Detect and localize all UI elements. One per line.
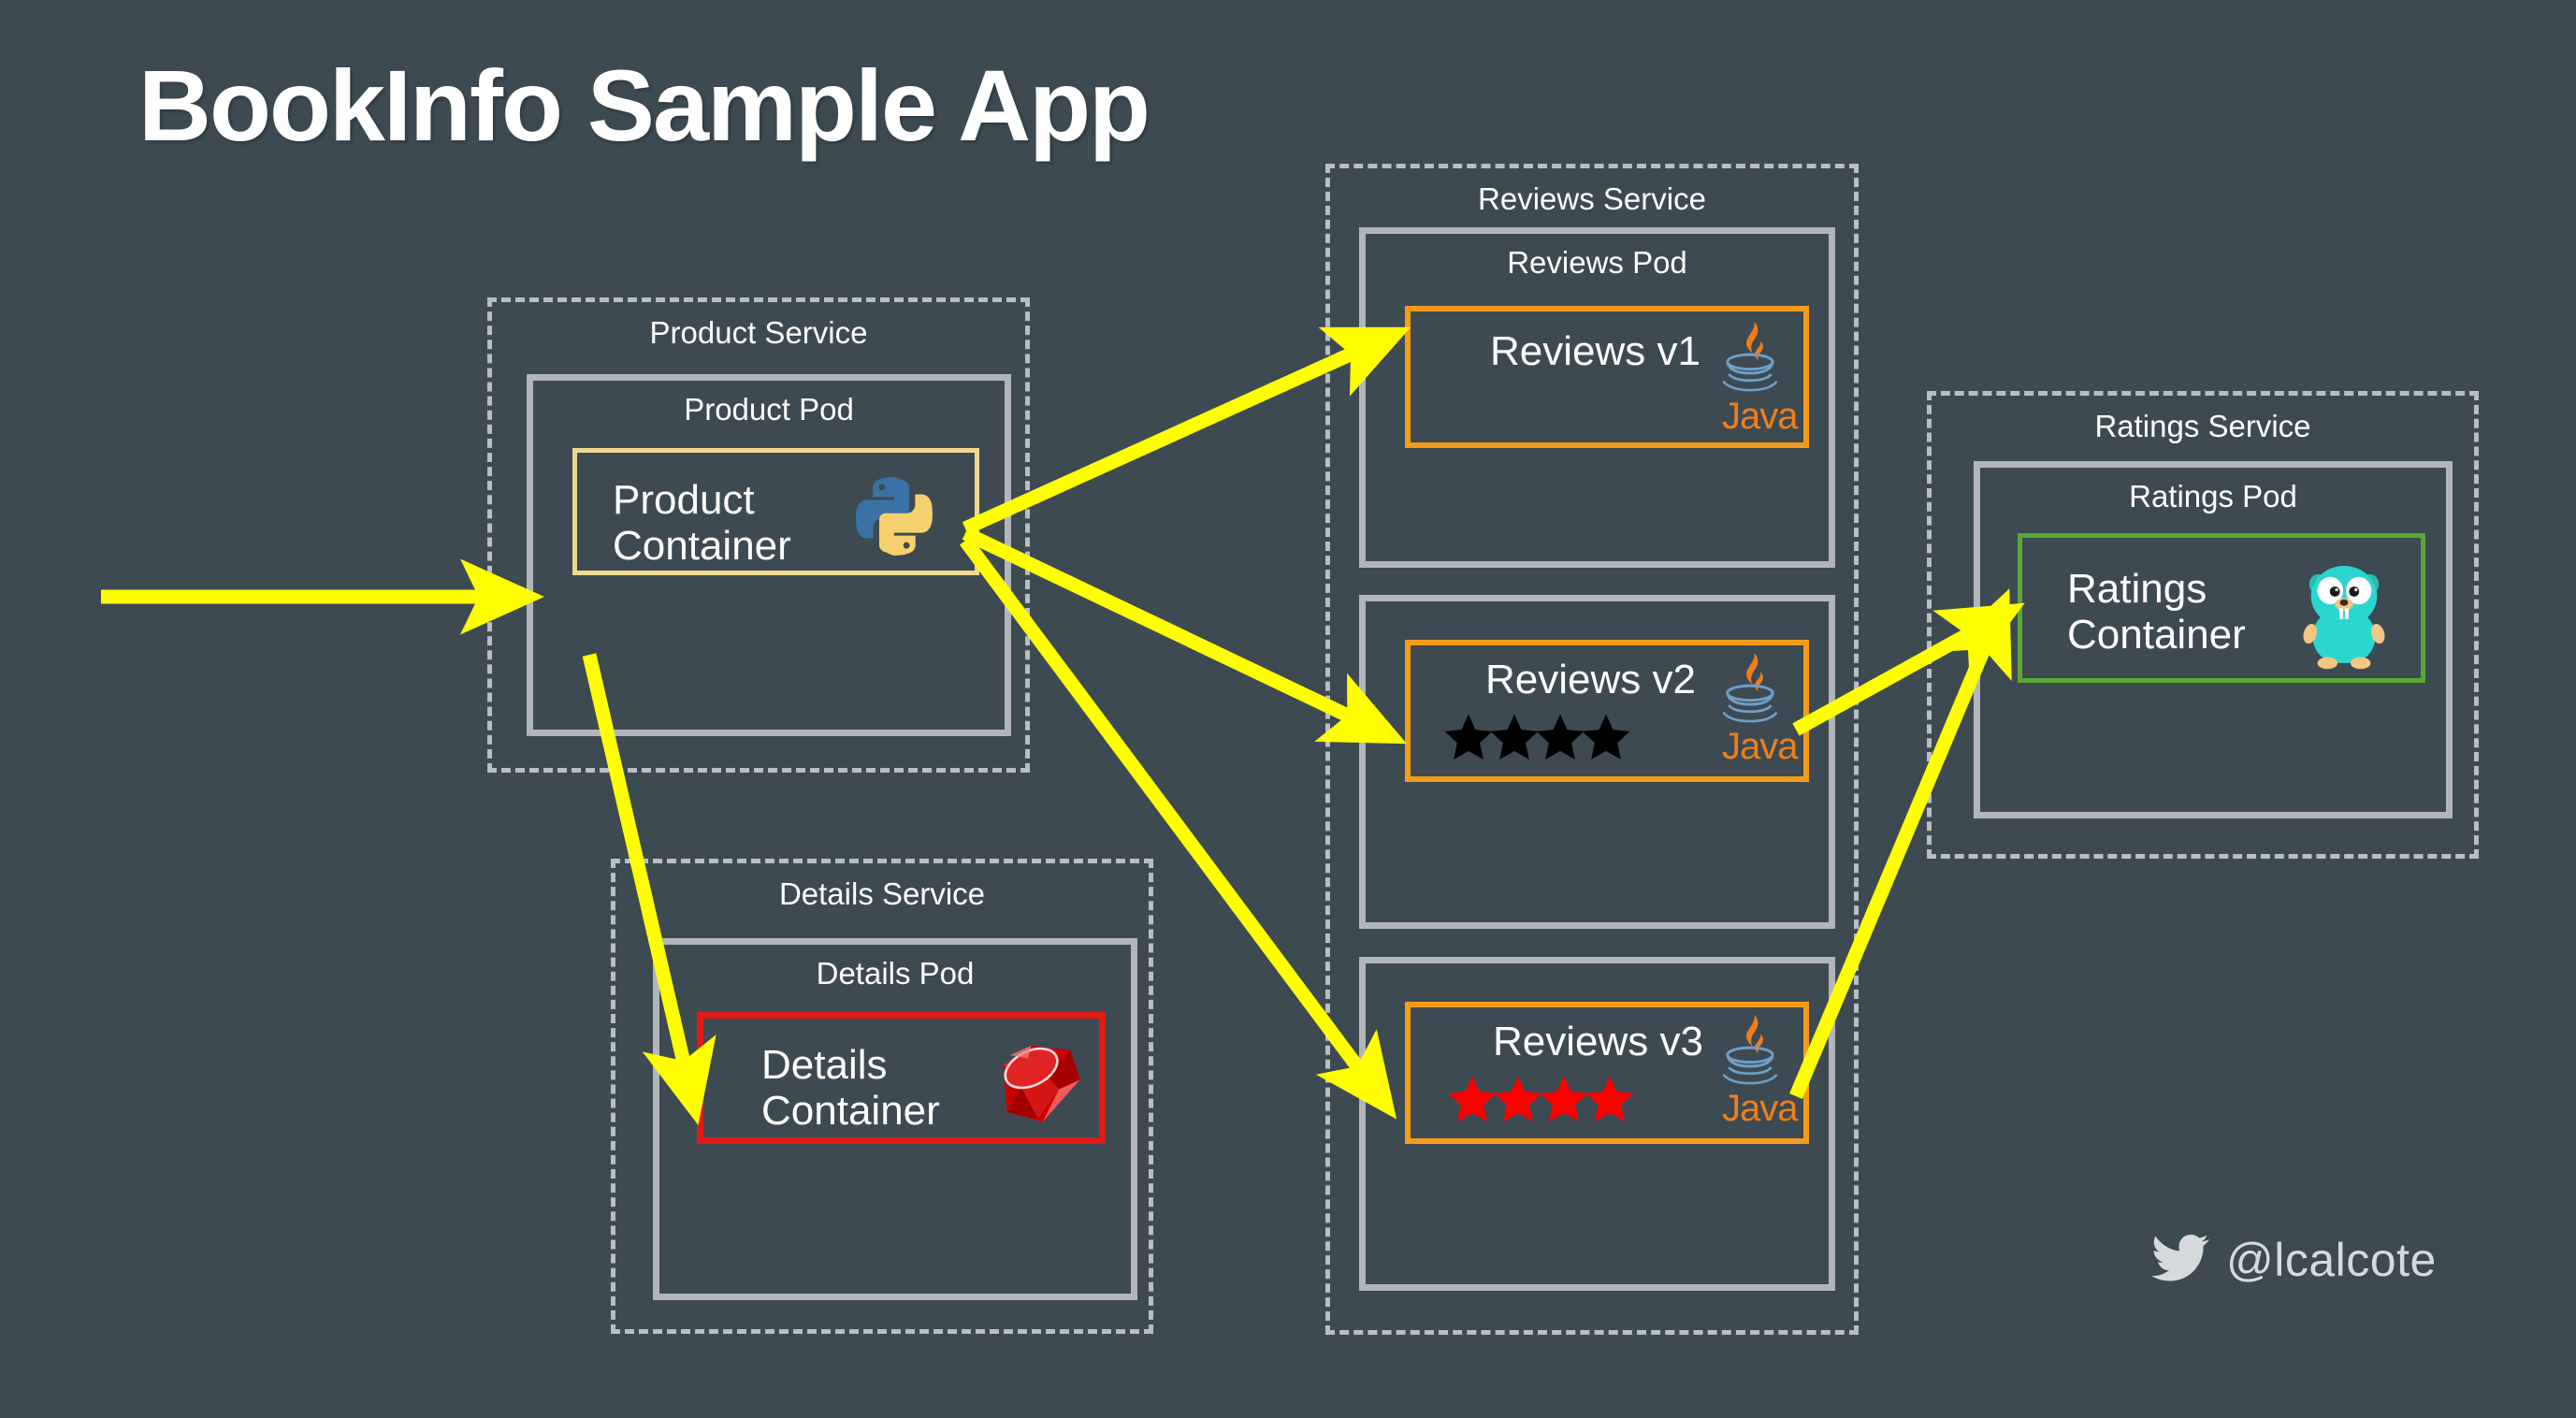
page-title: BookInfo Sample App xyxy=(138,47,1149,164)
pod-label-details: Details Pod xyxy=(659,956,1131,991)
container-label-details: Details Container xyxy=(761,1042,940,1135)
service-label-reviews: Reviews Service xyxy=(1330,181,1854,217)
container-box-reviews-v1[interactable]: Reviews v1 Java xyxy=(1405,306,1809,448)
python-logo xyxy=(851,473,937,564)
twitter-bird-icon xyxy=(2151,1234,2209,1287)
container-label-reviews-v1: Reviews v1 xyxy=(1490,328,1700,374)
container-box-details[interactable]: Details Container xyxy=(697,1012,1106,1144)
service-box-product[interactable]: Product Service Product Pod Product Cont… xyxy=(487,297,1030,773)
container-box-reviews-v3[interactable]: Reviews v3 xyxy=(1405,1002,1809,1144)
pod-label-reviews: Reviews Pod xyxy=(1366,245,1829,281)
java-wordmark: Java xyxy=(1722,726,1798,768)
container-label-product: Product Container xyxy=(613,477,791,570)
container-box-product[interactable]: Product Container xyxy=(572,448,979,575)
pod-box-reviews-v1[interactable]: Reviews Pod Reviews v1 Java xyxy=(1359,227,1835,568)
java-wordmark: Java xyxy=(1722,396,1798,438)
container-label-ratings: Ratings Container xyxy=(2067,566,2246,658)
star-rating-v3 xyxy=(1445,1073,1628,1125)
java-logo xyxy=(1714,651,1787,732)
pod-box-ratings[interactable]: Ratings Pod Ratings Container xyxy=(1974,461,2453,818)
star-rating-v2 xyxy=(1441,711,1625,763)
pod-box-product[interactable]: Product Pod Product Container xyxy=(527,374,1011,736)
diagram-canvas: BookInfo Sample App Product Service Prod… xyxy=(0,0,2576,1418)
twitter-credit[interactable]: @lcalcote xyxy=(2151,1233,2437,1287)
service-box-reviews[interactable]: Reviews Service Reviews Pod Reviews v1 J xyxy=(1325,164,1859,1335)
service-label-details: Details Service xyxy=(615,876,1149,912)
java-wordmark: Java xyxy=(1722,1088,1798,1130)
pod-label-ratings: Ratings Pod xyxy=(1980,479,2446,514)
service-box-ratings[interactable]: Ratings Service Ratings Pod Ratings Cont… xyxy=(1927,391,2479,859)
java-logo xyxy=(1714,320,1787,401)
service-label-product: Product Service xyxy=(492,315,1025,351)
java-logo xyxy=(1714,1013,1787,1094)
container-label-reviews-v3: Reviews v3 xyxy=(1493,1019,1703,1064)
twitter-handle: @lcalcote xyxy=(2226,1233,2437,1287)
pod-box-reviews-v2[interactable]: Reviews v2 xyxy=(1359,595,1835,929)
pod-label-product: Product Pod xyxy=(533,392,1005,427)
pod-box-reviews-v3[interactable]: Reviews v3 xyxy=(1359,957,1835,1291)
container-box-ratings[interactable]: Ratings Container xyxy=(2018,533,2425,683)
pod-box-details[interactable]: Details Pod Details Container xyxy=(653,938,1137,1300)
service-label-ratings: Ratings Service xyxy=(1932,409,2474,444)
container-box-reviews-v2[interactable]: Reviews v2 xyxy=(1405,640,1809,782)
container-label-reviews-v2: Reviews v2 xyxy=(1485,657,1696,702)
go-gopher-logo xyxy=(2298,553,2390,677)
service-box-details[interactable]: Details Service Details Pod Details Cont… xyxy=(611,859,1153,1334)
ruby-logo xyxy=(989,1037,1087,1136)
